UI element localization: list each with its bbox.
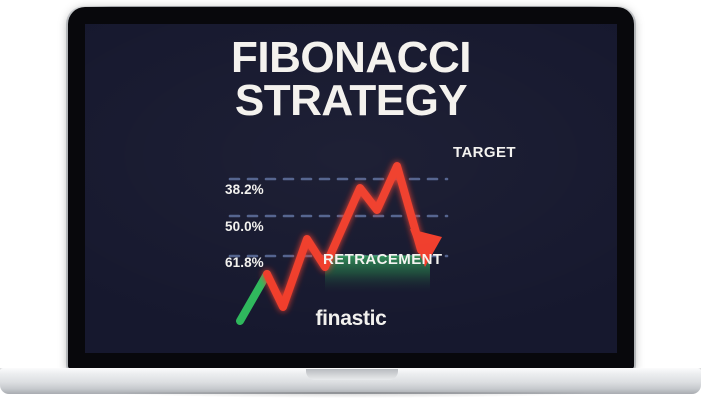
laptop-base-shadow: [22, 392, 679, 400]
title-line-2: STRATEGY: [85, 79, 617, 122]
page-title: FIBONACCI STRATEGY: [85, 36, 617, 122]
laptop-mockup: FIBONACCI STRATEGY 38.2% 50.0% 61.8% TAR…: [0, 0, 701, 405]
retracement-annotation: RETRACEMENT: [323, 251, 442, 268]
screenshot-stage: FIBONACCI STRATEGY 38.2% 50.0% 61.8% TAR…: [0, 0, 701, 405]
laptop-base-notch: [306, 369, 398, 380]
title-line-1: FIBONACCI: [85, 36, 617, 79]
target-annotation: TARGET: [453, 144, 516, 161]
laptop-screen: FIBONACCI STRATEGY 38.2% 50.0% 61.8% TAR…: [85, 24, 617, 353]
fib-level-label-382: 38.2%: [225, 182, 264, 197]
brand-logo: finastic: [85, 307, 617, 331]
fib-level-label-618: 61.8%: [225, 255, 264, 270]
fib-level-label-500: 50.0%: [225, 219, 264, 234]
